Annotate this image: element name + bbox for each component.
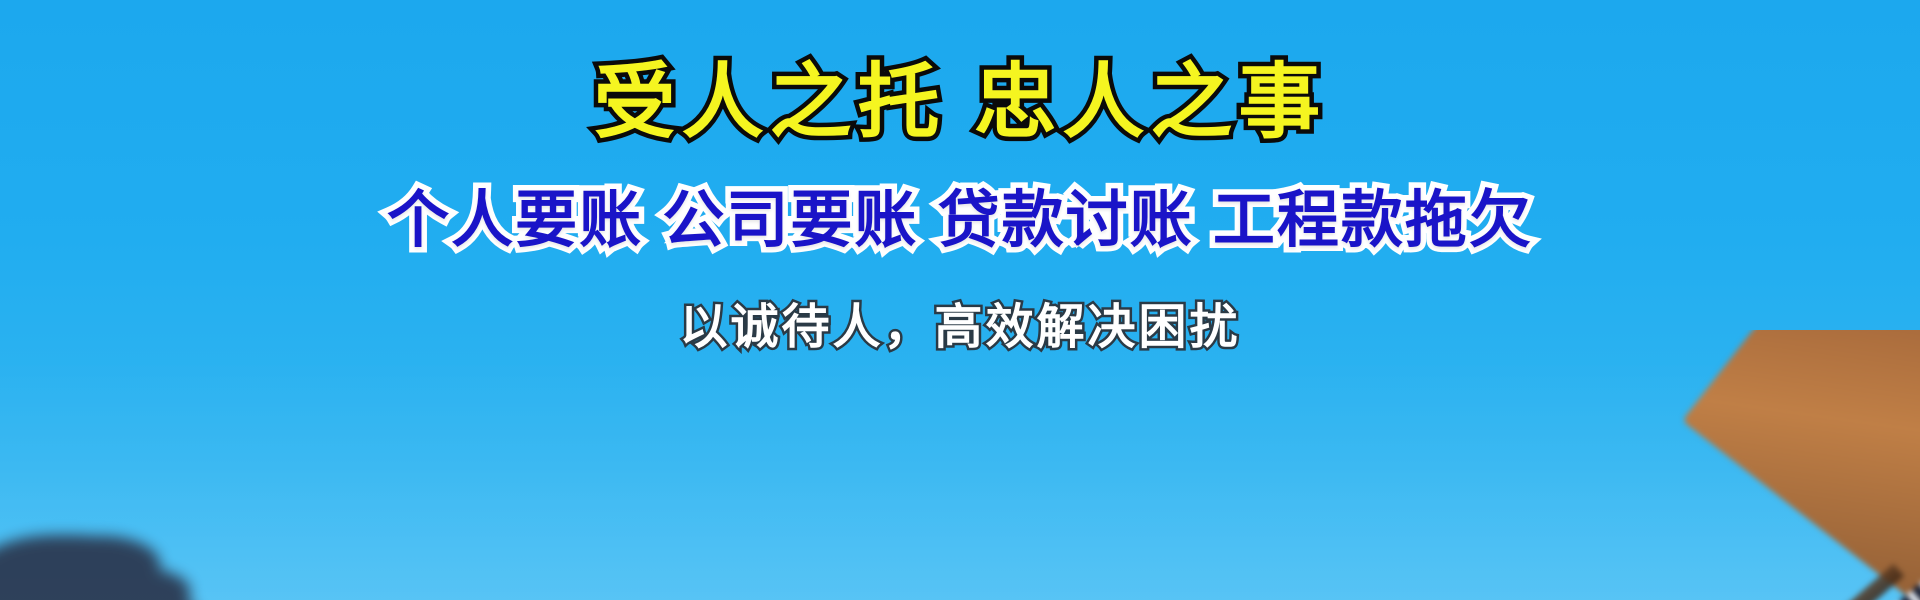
banner-content: 受人之托 忠人之事 个人要账 公司要账 贷款讨账 工程款拖欠 以诚待人，高效解决… <box>0 0 1920 600</box>
banner-services-list: 个人要账 公司要账 贷款讨账 工程款拖欠 <box>387 190 1533 252</box>
banner-headline: 受人之托 忠人之事 <box>594 62 1327 144</box>
banner-tagline: 以诚待人，高效解决困扰 <box>679 304 1240 352</box>
promotional-banner: 受人之托 忠人之事 个人要账 公司要账 贷款讨账 工程款拖欠 以诚待人，高效解决… <box>0 0 1920 600</box>
